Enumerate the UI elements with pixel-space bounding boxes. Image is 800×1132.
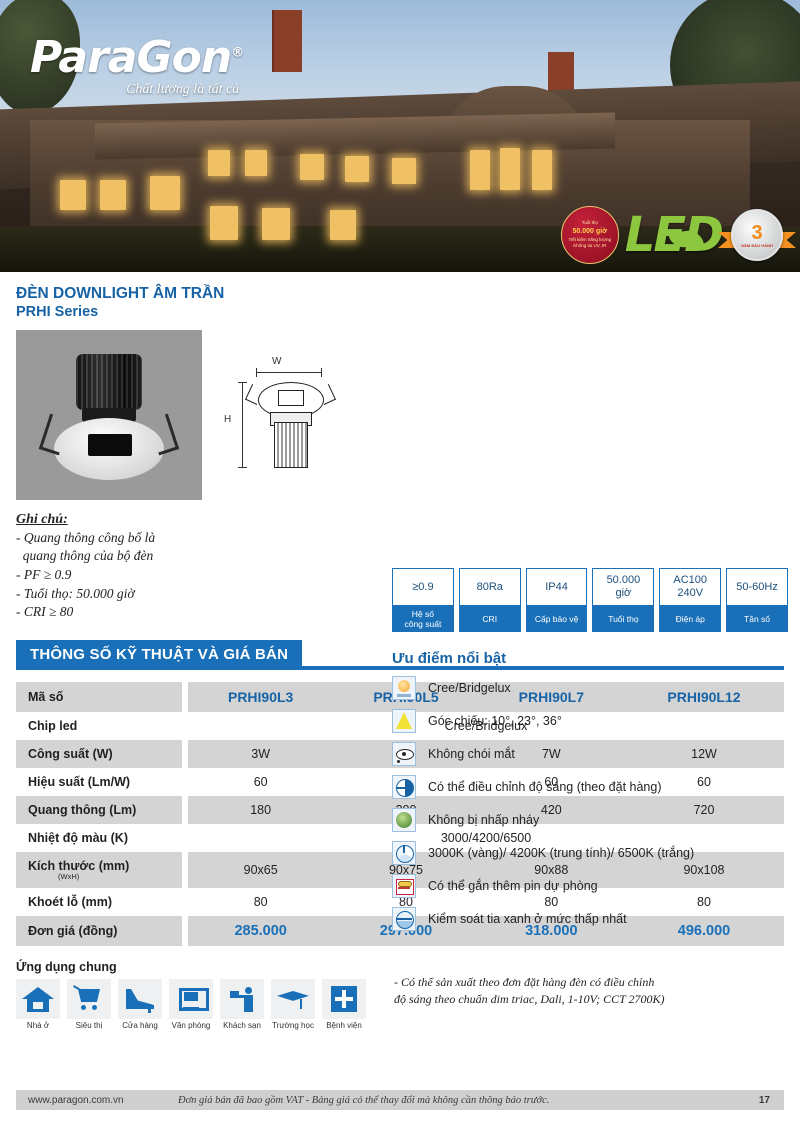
feature-row-no-flicker: Không bị nhấp nháy xyxy=(392,808,788,832)
product-title: ĐÈN DOWNLIGHT ÂM TRẦN PRHI Series xyxy=(16,284,784,322)
dimension-w-label: W xyxy=(272,356,281,367)
spec-item-voltage: AC100240V Điện áp xyxy=(659,568,721,632)
spec-item-frequency: 50-60Hz Tần số xyxy=(726,568,788,632)
product-photo xyxy=(16,330,202,500)
warranty-badge: 3 NĂM BẢO HÀNH xyxy=(728,206,786,264)
window-lit xyxy=(245,150,267,176)
applications-list: Ứng dụng chung Nhà ở Siêu thị Cửa hàng xyxy=(16,960,386,1030)
window-lit xyxy=(100,180,126,210)
custom-note-line2: độ sáng theo chuẩn dim triac, Dali, 1-10… xyxy=(394,991,784,1008)
spec-value: IP44 xyxy=(526,568,588,606)
brand-tagline: Chất lượng là tất cả xyxy=(30,82,243,98)
window-lit xyxy=(262,208,290,240)
shopping-cart-icon xyxy=(67,979,111,1019)
row-label: Hiệu suất (Lm/W) xyxy=(16,768,182,796)
no-flicker-icon xyxy=(392,808,416,832)
table-cell: 90x65 xyxy=(188,852,333,888)
page-content: ĐÈN DOWNLIGHT ÂM TRẦN PRHI Series W H xyxy=(0,284,800,1030)
table-cell: 180 xyxy=(188,796,333,824)
application-item-home: Nhà ở xyxy=(16,979,60,1030)
note-line: - CRI ≥ 80 xyxy=(16,603,346,622)
spec-value: 80Ra xyxy=(459,568,521,606)
window-lit xyxy=(532,150,552,190)
warranty-seal: 3 NĂM BẢO HÀNH xyxy=(731,209,783,261)
feature-row-blue-light: Kiểm soát tia xanh ở mức thấp nhất xyxy=(392,907,788,931)
spec-value: 50.000giờ xyxy=(592,568,654,606)
spec-label: CRI xyxy=(459,606,521,632)
cob-chip-icon xyxy=(392,676,416,700)
lens xyxy=(88,434,132,456)
feature-row-dimmable: Có thể điều chỉnh độ sáng (theo đặt hàng… xyxy=(392,775,788,799)
house-icon xyxy=(16,979,60,1019)
spec-item-power-factor: ≥0.9 Hệ sốcông suất xyxy=(392,568,454,632)
dimension-w-bar xyxy=(256,372,322,373)
feature-text: Kiểm soát tia xanh ở mức thấp nhất xyxy=(428,912,627,926)
table-cell: 80 xyxy=(188,888,333,916)
feature-text: Có thể điều chỉnh độ sáng (theo đặt hàng… xyxy=(428,780,662,794)
note-line: - Quang thông công bố là xyxy=(16,529,346,548)
feature-text: Không chói mắt xyxy=(428,747,515,761)
application-label: Trường học xyxy=(271,1021,315,1030)
lifetime-badge: Tuổi thọ 50.000 giờ Tiết kiệm năng lượng… xyxy=(561,206,619,264)
brand-logo: ParaGon® Chất lượng là tất cả xyxy=(30,36,243,98)
spec-item-lifetime: 50.000giờ Tuổi thọ xyxy=(592,568,654,632)
window-lit xyxy=(330,210,356,240)
application-label: Bệnh viện xyxy=(322,1021,366,1030)
window-lit xyxy=(392,158,416,184)
window-lit xyxy=(345,156,369,182)
product-title-line1: ĐÈN DOWNLIGHT ÂM TRẦN xyxy=(16,284,784,303)
feature-text: Không bị nhấp nháy xyxy=(428,813,539,827)
dimmable-icon xyxy=(392,775,416,799)
price-cell: 285.000 xyxy=(188,916,333,946)
registered-mark: ® xyxy=(231,45,243,60)
applications-row: Nhà ở Siêu thị Cửa hàng Văn phòng xyxy=(16,979,386,1030)
medical-cross-icon xyxy=(322,979,366,1019)
row-label: Quang thông (Lm) xyxy=(16,796,182,824)
row-label: Nhiệt độ màu (K) xyxy=(16,824,182,852)
graduation-cap-icon xyxy=(271,979,315,1019)
spec-value: AC100240V xyxy=(659,568,721,606)
dimension-h-label: H xyxy=(224,414,231,425)
row-label: Kích thước (mm)(WxH) xyxy=(16,852,182,888)
dimension-diagram: W H xyxy=(216,330,386,500)
feature-row-beam-angle: Góc chiếu: 10°, 23°, 36° xyxy=(392,709,788,733)
spec-item-ip-rating: IP44 Cấp bảo vệ xyxy=(526,568,588,632)
feature-text: Góc chiếu: 10°, 23°, 36° xyxy=(428,714,562,728)
bellhop-icon xyxy=(220,979,264,1019)
row-label: Mã số xyxy=(16,682,182,712)
blue-light-icon xyxy=(392,907,416,931)
feature-row-chip: Cree/Bridgelux xyxy=(392,676,788,700)
notes-block: Ghi chú: - Quang thông công bố là quang … xyxy=(16,510,346,622)
hero-image: ParaGon® Chất lượng là tất cả Tuổi thọ 5… xyxy=(0,0,800,272)
application-item-school: Trường học xyxy=(271,979,315,1030)
application-item-hospital: Bệnh viện xyxy=(322,979,366,1030)
feature-row-battery: Có thể gắn thêm pin dự phòng xyxy=(392,874,788,898)
spec-label: Tuổi thọ xyxy=(592,606,654,632)
catalog-page: ParaGon® Chất lượng là tất cả Tuổi thọ 5… xyxy=(0,0,800,1132)
application-item-office: Văn phòng xyxy=(169,979,213,1030)
diagram-lens xyxy=(278,390,304,406)
feature-text: Cree/Bridgelux xyxy=(428,681,511,695)
product-series: PRHI Series xyxy=(16,303,784,321)
feature-row-cct: 3000K (vàng)/ 4200K (trung tính)/ 6500K … xyxy=(392,841,788,865)
table-cell: 3W xyxy=(188,740,333,768)
note-line: quang thông của bộ đèn xyxy=(16,547,346,566)
warranty-label: NĂM BẢO HÀNH xyxy=(741,243,773,248)
dimension-h-bar xyxy=(242,382,243,468)
spec-item-cri: 80Ra CRI xyxy=(459,568,521,632)
spec-strip: ≥0.9 Hệ sốcông suất 80Ra CRI IP44 Cấp bả… xyxy=(392,568,788,632)
application-item-shop: Cửa hàng xyxy=(118,979,162,1030)
row-label-text: Kích thước (mm) xyxy=(28,859,129,873)
page-footer: www.paragon.com.vn Đơn giá bán đã bao gồ… xyxy=(16,1090,784,1110)
row-label: Đơn giá (đồng) xyxy=(16,916,182,946)
row-label: Chip led xyxy=(16,712,182,740)
window-lit xyxy=(150,176,180,210)
application-label: Siêu thị xyxy=(67,1021,111,1030)
heatsink-fins xyxy=(76,354,142,410)
spec-value: 50-60Hz xyxy=(726,568,788,606)
feature-row-anti-glare: Không chói mắt xyxy=(392,742,788,766)
hero-badges: Tuổi thọ 50.000 giờ Tiết kiệm năng lượng… xyxy=(561,206,786,264)
brand-name: ParaGon® xyxy=(30,36,243,80)
window-lit xyxy=(500,148,520,190)
website-url[interactable]: www.paragon.com.vn xyxy=(16,1095,178,1106)
right-column: ≥0.9 Hệ sốcông suất 80Ra CRI IP44 Cấp bả… xyxy=(392,568,788,931)
footer-disclaimer: Đơn giá bán đã bao gồm VAT - Bảng giá có… xyxy=(178,1095,759,1106)
application-label: Khách sạn xyxy=(220,1021,264,1030)
warranty-number: 3 xyxy=(751,223,762,243)
spec-label: Cấp bảo vệ xyxy=(526,606,588,632)
spec-value: ≥0.9 xyxy=(392,568,454,606)
custom-order-note: - Có thể sản xuất theo đơn đặt hàng đèn … xyxy=(386,960,784,1009)
spec-label: Điện áp xyxy=(659,606,721,632)
application-label: Văn phòng xyxy=(169,1021,213,1030)
lifetime-value: 50.000 giờ xyxy=(573,227,608,237)
diagram-heatsink xyxy=(274,422,308,468)
row-label: Khoét lỗ (mm) xyxy=(16,888,182,916)
notes-heading: Ghi chú: xyxy=(16,510,346,529)
window-lit xyxy=(300,154,324,180)
window-lit xyxy=(470,150,490,190)
window-lit xyxy=(60,180,86,210)
led-logo: LED xyxy=(625,211,722,259)
window-lit xyxy=(208,150,230,176)
shoe-icon xyxy=(118,979,162,1019)
applications-section: Ứng dụng chung Nhà ở Siêu thị Cửa hàng xyxy=(16,960,784,1030)
features-heading: Ưu điểm nổi bật xyxy=(392,650,788,667)
battery-backup-icon xyxy=(392,874,416,898)
row-label-sub: (WxH) xyxy=(28,872,176,881)
feature-text: Có thể gắn thêm pin dự phòng xyxy=(428,879,598,893)
section-title: THÔNG SỐ KỸ THUẬT VÀ GIÁ BÁN xyxy=(16,640,302,670)
product-visuals: W H xyxy=(16,330,784,500)
monitor-icon xyxy=(169,979,213,1019)
color-temperature-icon xyxy=(392,841,416,865)
window-lit xyxy=(210,206,238,240)
application-label: Nhà ở xyxy=(16,1021,60,1030)
anti-glare-eye-icon xyxy=(392,742,416,766)
application-item-supermarket: Siêu thị xyxy=(67,979,111,1030)
page-number: 17 xyxy=(759,1095,784,1106)
spec-label: Tần số xyxy=(726,606,788,632)
custom-note-line1: - Có thể sản xuất theo đơn đặt hàng đèn … xyxy=(394,974,784,991)
table-cell: 60 xyxy=(188,768,333,796)
table-cell: PRHI90L3 xyxy=(188,682,333,712)
applications-heading: Ứng dụng chung xyxy=(16,960,386,974)
application-item-hotel: Khách sạn xyxy=(220,979,264,1030)
chimney-left xyxy=(272,10,302,72)
lifetime-line2: Không tia UV, IR xyxy=(573,243,606,250)
note-line: - Tuổi thọ: 50.000 giờ xyxy=(16,585,346,604)
feature-text: 3000K (vàng)/ 4200K (trung tính)/ 6500K … xyxy=(428,846,694,860)
application-label: Cửa hàng xyxy=(118,1021,162,1030)
spec-label: Hệ sốcông suất xyxy=(392,606,454,632)
beam-angle-icon xyxy=(392,709,416,733)
note-line: - PF ≥ 0.9 xyxy=(16,566,346,585)
row-label: Công suất (W) xyxy=(16,740,182,768)
